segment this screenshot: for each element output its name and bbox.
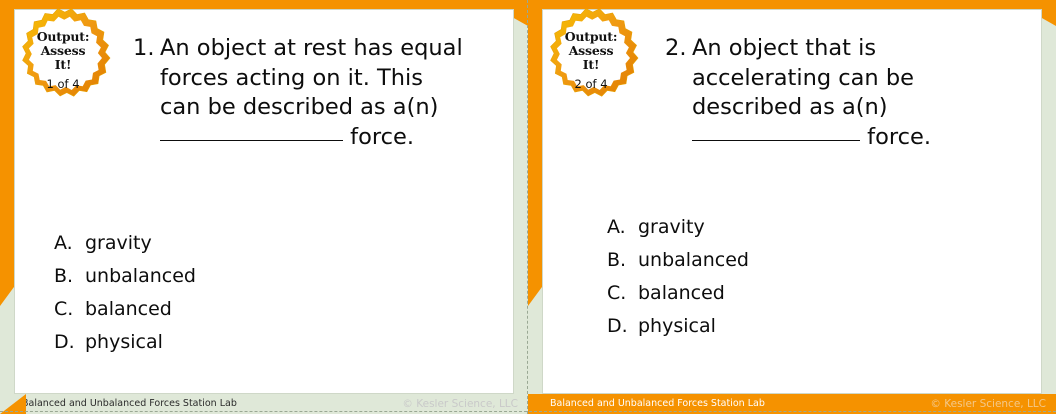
option-letter: B. — [607, 249, 638, 271]
fill-in-blank — [692, 140, 860, 141]
answer-option[interactable]: A. gravity — [607, 216, 749, 238]
page-cut-line-vertical — [527, 0, 528, 414]
option-letter: B. — [54, 265, 85, 287]
slide-1: Output: Assess It! 1 of 4 1. An object a… — [0, 0, 528, 414]
option-letter: D. — [607, 315, 638, 337]
slide-2: Output: Assess It! 2 of 4 2. An object t… — [528, 0, 1056, 414]
output-assess-badge: Output: Assess It! 1 of 4 — [6, 5, 120, 115]
question-text-after-blank: force. — [867, 124, 931, 150]
badge-line-1: Output: — [565, 30, 618, 44]
answer-option[interactable]: B. unbalanced — [607, 249, 749, 271]
question-block: 2. An object that is accelerating can be… — [665, 34, 995, 153]
page-cut-line-horizontal — [0, 411, 1056, 412]
badge-line-2: Assess — [37, 44, 90, 58]
answer-option[interactable]: D. physical — [54, 331, 196, 353]
badge-count: 1 of 4 — [46, 78, 79, 91]
option-letter: C. — [54, 298, 85, 320]
option-text: gravity — [638, 216, 749, 238]
option-letter: D. — [54, 331, 85, 353]
footer-title: Balanced and Unbalanced Forces Station L… — [550, 398, 765, 409]
answer-options: A. gravity B. unbalanced C. balanced D. … — [54, 232, 196, 364]
answer-option[interactable]: C. balanced — [607, 282, 749, 304]
question-text-before-blank: An object at rest has equal forces actin… — [160, 35, 463, 120]
question-text-after-blank: force. — [350, 124, 414, 150]
badge-line-1: Output: — [37, 30, 90, 44]
option-letter: A. — [607, 216, 638, 238]
option-text: physical — [85, 331, 196, 353]
answer-option[interactable]: B. unbalanced — [54, 265, 196, 287]
badge-count: 2 of 4 — [574, 78, 607, 91]
option-text: unbalanced — [85, 265, 196, 287]
badge-line-2: Assess — [565, 44, 618, 58]
option-text: balanced — [638, 282, 749, 304]
option-letter: A. — [54, 232, 85, 254]
answer-option[interactable]: C. balanced — [54, 298, 196, 320]
option-text: gravity — [85, 232, 196, 254]
fill-in-blank — [160, 140, 343, 141]
footer-title: Balanced and Unbalanced Forces Station L… — [22, 398, 237, 409]
badge-line-3: It! — [37, 58, 90, 72]
footer-copyright: © Kesler Science, LLC — [402, 398, 518, 410]
footer-copyright: © Kesler Science, LLC — [930, 398, 1046, 410]
question-number: 1. — [133, 34, 160, 153]
badge-line-3: It! — [565, 58, 618, 72]
option-text: unbalanced — [638, 249, 749, 271]
option-text: balanced — [85, 298, 196, 320]
question-text: An object that is accelerating can be de… — [692, 34, 995, 153]
answer-option[interactable]: D. physical — [607, 315, 749, 337]
question-text: An object at rest has equal forces actin… — [160, 34, 463, 153]
answer-options: A. gravity B. unbalanced C. balanced D. … — [607, 216, 749, 348]
question-block: 1. An object at rest has equal forces ac… — [133, 34, 463, 153]
question-number: 2. — [665, 34, 692, 153]
option-letter: C. — [607, 282, 638, 304]
option-text: physical — [638, 315, 749, 337]
answer-option[interactable]: A. gravity — [54, 232, 196, 254]
output-assess-badge: Output: Assess It! 2 of 4 — [534, 5, 648, 115]
question-text-before-blank: An object that is accelerating can be de… — [692, 35, 914, 120]
worksheet-page: Output: Assess It! 1 of 4 1. An object a… — [0, 0, 1056, 414]
